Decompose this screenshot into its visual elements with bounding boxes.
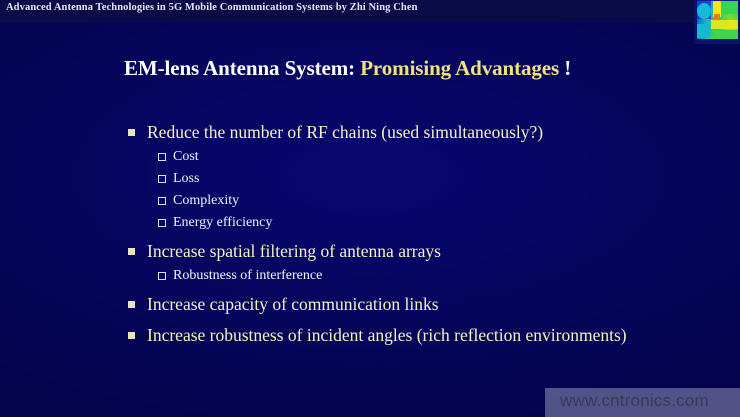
- bullet-text: Increase spatial filtering of antenna ar…: [147, 239, 740, 264]
- filled-square-bullet-icon: [128, 129, 135, 136]
- bullet-text: Complexity: [173, 193, 239, 208]
- bullet-text: Robustness of interference: [173, 268, 322, 283]
- hollow-square-bullet-icon: [158, 197, 166, 205]
- bullet-item-level2: Energy efficiency: [0, 212, 740, 234]
- hollow-square-bullet-icon: [158, 219, 166, 227]
- hollow-square-bullet-icon: [158, 153, 166, 161]
- slide-title-plain: EM-lens Antenna System:: [124, 56, 360, 80]
- bullet-item-level2: Loss: [0, 168, 740, 190]
- slide-title-suffix: !: [559, 56, 571, 80]
- bullet-item-level2: Robustness of interference: [0, 265, 740, 287]
- bullet-item-level2: Complexity: [0, 190, 740, 212]
- bullet-text: Energy efficiency: [173, 215, 272, 230]
- running-title: Advanced Antenna Technologies in 5G Mobi…: [6, 2, 418, 13]
- page-number: 13: [697, 390, 708, 402]
- bullet-text: Loss: [173, 171, 199, 186]
- bullet-text: Cost: [173, 149, 199, 164]
- hollow-square-bullet-icon: [158, 272, 166, 280]
- em-simulation-thumbnail-icon: [694, 0, 740, 44]
- slide-title: EM-lens Antenna System: Promising Advant…: [124, 56, 571, 81]
- bullet-item-level1: Increase spatial filtering of antenna ar…: [0, 239, 740, 264]
- bullet-list: Reduce the number of RF chains (used sim…: [0, 120, 740, 349]
- filled-square-bullet-icon: [128, 301, 135, 308]
- bullet-text: Increase capacity of communication links: [147, 292, 740, 317]
- bullet-item-level1: Increase robustness of incident angles (…: [0, 323, 740, 348]
- bullet-item-level1: Reduce the number of RF chains (used sim…: [0, 120, 740, 145]
- hollow-square-bullet-icon: [158, 175, 166, 183]
- bullet-item-level1: Increase capacity of communication links: [0, 292, 740, 317]
- watermark-url: www.cntronics.com: [560, 391, 709, 411]
- bullet-text: Increase robustness of incident angles (…: [147, 323, 740, 348]
- bullet-item-level2: Cost: [0, 146, 740, 168]
- slide-canvas: Advanced Antenna Technologies in 5G Mobi…: [0, 0, 740, 417]
- bullet-text: Reduce the number of RF chains (used sim…: [147, 120, 740, 145]
- slide-title-accent: Promising Advantages: [360, 56, 559, 80]
- filled-square-bullet-icon: [128, 248, 135, 255]
- filled-square-bullet-icon: [128, 332, 135, 339]
